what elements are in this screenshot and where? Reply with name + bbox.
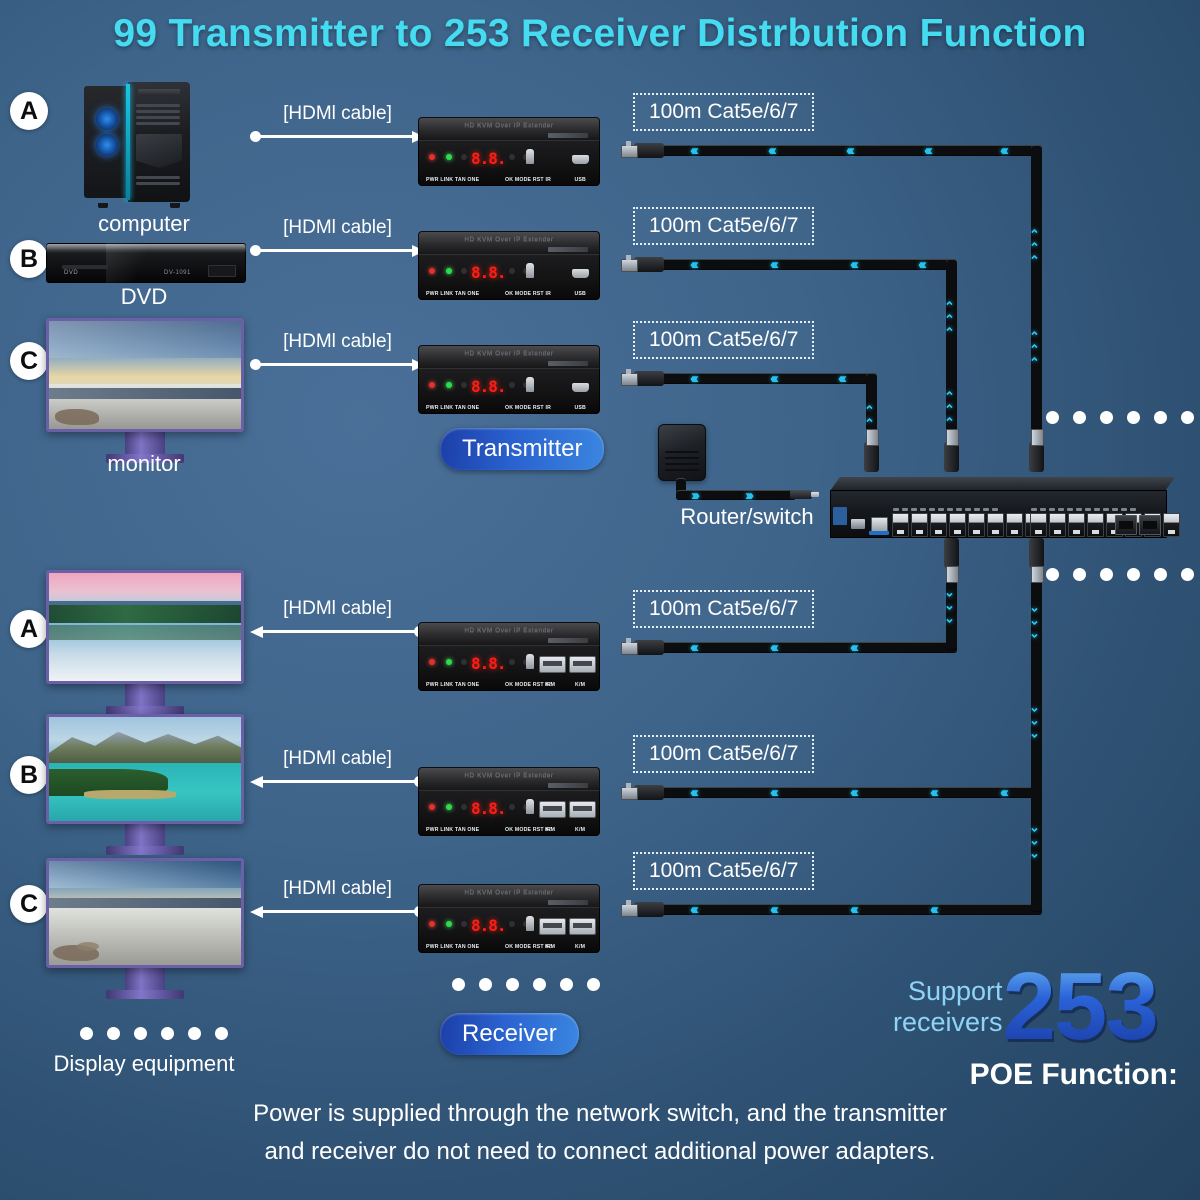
cable-chevron-vertical: ⌃⌃⌃ [1029,600,1040,639]
cat-cable-label-c-top: 100m Cat5e/6/7 [633,321,814,359]
cable-chevron: ‹‹‹ [690,257,696,272]
led-pwr [429,804,435,810]
poe-line-2: and receiver do not need to connect addi… [0,1138,1200,1166]
support-count: 253 [1003,965,1157,1049]
network-switch[interactable] [830,477,1175,539]
switch-usb-port[interactable] [851,519,865,529]
ir-sensor-icon [526,916,534,931]
device-label-left: PWR LINK TAN ONE [426,177,479,183]
hdmi-label: [HDMl cable] [250,878,425,900]
ethernet-cable-b-top [652,259,957,270]
hdmi-arrow-b-top: [HDMl cable] [250,217,425,257]
cat-cable-label-c-bottom: 100m Cat5e/6/7 [633,852,814,890]
source-monitor [46,318,244,463]
hdmi-arrow-b-bottom: [HDMl cable] [250,748,425,788]
switch-port-block-1[interactable] [892,513,1042,537]
led-tan [461,659,467,665]
led-link [446,804,452,810]
source-badge-b: B [10,240,48,278]
cable-chevron: ‹‹‹ [748,488,754,503]
ellipsis-dots-receiver [452,978,600,991]
cat-cable-label-a-top: 100m Cat5e/6/7 [633,93,814,131]
receiver-badge: Receiver [440,1013,579,1055]
diagram-canvas: 99 Transmitter to 253 Receiver Distrbuti… [0,0,1200,1200]
cable-chevron-vertical: ⌃⌃⌃ [1029,820,1040,859]
led-ok [509,659,515,665]
display-badge-c: C [10,885,48,923]
cable-chevron-vertical: ⌃⌃⌃ [1029,330,1040,369]
power-adapter [658,424,706,481]
display-monitor-c [46,858,244,999]
cable-chevron: ‹‹‹ [694,488,700,503]
display-monitor-b [46,714,244,855]
hdmi-arrow-a-top: [HDMl cable] [250,103,425,143]
usb-label: USB [574,291,586,297]
cable-chevron: ‹‹‹ [770,257,776,272]
transmitter-badge: Transmitter [440,428,604,470]
cable-chevron: ‹‹‹ [850,785,856,800]
device-brand: HD KVM Over IP Extender [419,122,599,129]
usb-label: USB [574,177,586,183]
cat-cable-label-a-bottom: 100m Cat5e/6/7 [633,590,814,628]
usb-km-label-1: K/M [545,682,555,688]
support-line-2: receivers [893,1007,1003,1038]
hdmi-arrow-c-bottom: [HDMl cable] [250,878,425,918]
monitor-label: monitor [44,451,244,477]
led-tan [461,154,467,160]
cable-chevron: ‹‹‹ [690,640,696,655]
led-tan [461,804,467,810]
device-brand: HD KVM Over IP Extender [419,236,599,243]
display-badge-a: A [10,610,48,648]
device-brand: HD KVM Over IP Extender [419,772,599,779]
usb-mini-port[interactable] [572,383,589,392]
seven-segment-display: 8.8. [471,654,506,673]
led-link [446,268,452,274]
poe-line-1: Power is supplied through the network sw… [0,1100,1200,1128]
cable-chevron-vertical: ⌃⌃⌃ [944,300,955,339]
usb-km-port-1[interactable] [539,801,566,818]
led-link [446,382,452,388]
cable-chevron: ‹‹‹ [770,902,776,917]
receiver-device-c[interactable]: HD KVM Over IP Extender 8.8. PWR LINK TA… [418,884,600,953]
seven-segment-display: 8.8. [471,149,506,168]
receiver-device-b[interactable]: HD KVM Over IP Extender 8.8. PWR LINK TA… [418,767,600,836]
cable-chevron: ‹‹‹ [850,640,856,655]
cable-chevron: ‹‹‹ [690,371,696,386]
ellipsis-dots-bottom-right [1046,568,1194,581]
device-label-left: PWR LINK TAN ONE [426,682,479,688]
seven-segment-display: 8.8. [471,916,506,935]
ir-sensor-icon [526,263,534,278]
computer-tower [84,82,200,204]
cable-chevron: ‹‹‹ [918,257,924,272]
sfp-slot-1[interactable] [1115,515,1137,535]
ir-sensor-icon [526,149,534,164]
support-receivers-block: Support receivers 253 [893,965,1157,1049]
device-tag [548,247,588,252]
support-line-1: Support [893,976,1003,1007]
usb-km-port-2[interactable] [569,656,596,673]
hdmi-label: [HDMl cable] [250,103,425,125]
cable-chevron: ‹‹‹ [850,257,856,272]
cable-chevron: ‹‹‹ [770,640,776,655]
led-ok [509,804,515,810]
cable-chevron: ‹‹‹ [690,902,696,917]
cable-chevron: ‹‹‹ [1000,143,1006,158]
led-tan [461,921,467,927]
seven-segment-display: 8.8. [471,263,506,282]
led-link [446,921,452,927]
hdmi-label: [HDMl cable] [250,598,425,620]
cable-chevron: ‹‹‹ [1000,785,1006,800]
device-label-mid: OK MODE RST IR [505,177,551,183]
device-label-mid: OK MODE RST IR [505,291,551,297]
ethernet-cable-c-bottom [652,904,1042,915]
transmitter-device-b[interactable]: HD KVM Over IP Extender 8.8. PWR LINK TA… [418,231,600,300]
led-pwr [429,921,435,927]
cable-chevron: ‹‹‹ [930,902,936,917]
ir-sensor-icon [526,377,534,392]
device-tag [548,783,588,788]
seven-segment-display: 8.8. [471,799,506,818]
ellipsis-dots-top-right [1046,411,1194,424]
led-pwr [429,659,435,665]
ethernet-cable-b-bottom [652,787,1042,798]
device-label-left: PWR LINK TAN ONE [426,291,479,297]
device-brand: HD KVM Over IP Extender [419,350,599,357]
display-badge-b: B [10,756,48,794]
receiver-device-a[interactable]: HD KVM Over IP Extender 8.8. PWR LINK TA… [418,622,600,691]
cat-cable-label-b-top: 100m Cat5e/6/7 [633,207,814,245]
switch-management-port[interactable] [871,517,888,532]
cable-chevron: ‹‹‹ [846,143,852,158]
ellipsis-dots-display-equipment [80,1027,228,1040]
usb-km-label-1: K/M [545,944,555,950]
hdmi-label: [HDMl cable] [250,748,425,770]
ir-sensor-icon [526,654,534,669]
led-tan [461,382,467,388]
cable-chevron: ‹‹‹ [850,902,856,917]
cable-chevron: ‹‹‹ [690,785,696,800]
cable-chevron: ‹‹‹ [770,785,776,800]
usb-km-port-2[interactable] [569,801,596,818]
led-tan [461,268,467,274]
usb-km-port-1[interactable] [539,656,566,673]
device-tag [548,900,588,905]
led-ok [509,382,515,388]
led-link [446,659,452,665]
cable-chevron: ‹‹‹ [690,143,696,158]
hdmi-label: [HDMl cable] [250,331,425,353]
cable-chevron: ‹‹‹ [930,785,936,800]
usb-km-port-1[interactable] [539,918,566,935]
cable-chevron: ‹‹‹ [838,371,844,386]
cat-cable-label-b-bottom: 100m Cat5e/6/7 [633,735,814,773]
device-tag [548,133,588,138]
usb-km-label-2: K/M [575,827,585,833]
usb-km-label-2: K/M [575,944,585,950]
transmitter-device-c[interactable]: HD KVM Over IP Extender 8.8. PWR LINK TA… [418,345,600,414]
hdmi-arrow-a-bottom: [HDMl cable] [250,598,425,638]
poe-title: POE Function: [0,1058,1178,1092]
device-label-left: PWR LINK TAN ONE [426,827,479,833]
led-link [446,154,452,160]
led-pwr [429,268,435,274]
led-pwr [429,382,435,388]
router-switch-label: Router/switch [652,504,842,530]
transmitter-device-a[interactable]: HD KVM Over IP Extender 8.8. PWR LINK TA… [418,117,600,186]
usb-label: USB [574,405,586,411]
device-label-mid: OK MODE RST IR [505,405,551,411]
device-tag [548,638,588,643]
computer-label: computer [44,211,244,237]
led-ok [509,154,515,160]
hdmi-arrow-c-top: [HDMl cable] [250,331,425,371]
led-ok [509,921,515,927]
source-badge-a: A [10,92,48,130]
page-title: 99 Transmitter to 253 Receiver Distrbuti… [0,12,1200,56]
ethernet-cable-a-top-drop [1031,145,1042,470]
ir-sensor-icon [526,799,534,814]
cable-chevron-vertical: ⌃⌃⌃ [1029,700,1040,739]
usb-km-port-2[interactable] [569,918,596,935]
led-pwr [429,154,435,160]
dvd-label: DVD [44,284,244,310]
cable-chevron: ‹‹‹ [924,143,930,158]
cable-chevron: ‹‹‹ [770,371,776,386]
dvd-player: DVDDV-1091 [46,243,246,283]
sfp-slot-2[interactable] [1139,515,1161,535]
cable-chevron-vertical: ⌃⌃⌃ [944,390,955,429]
device-brand: HD KVM Over IP Extender [419,627,599,634]
dc-barrel-plug [790,490,812,499]
device-tag [548,361,588,366]
usb-mini-port[interactable] [572,269,589,278]
device-brand: HD KVM Over IP Extender [419,889,599,896]
usb-km-label-2: K/M [575,682,585,688]
cable-chevron-vertical: ⌃⌃⌃ [944,585,955,624]
display-monitor-a [46,570,244,715]
cable-chevron-vertical: ⌃⌃⌃ [1029,228,1040,267]
device-label-left: PWR LINK TAN ONE [426,944,479,950]
seven-segment-display: 8.8. [471,377,506,396]
source-badge-c: C [10,342,48,380]
led-ok [509,268,515,274]
device-label-left: PWR LINK TAN ONE [426,405,479,411]
usb-km-label-1: K/M [545,827,555,833]
cable-chevron: ‹‹‹ [768,143,774,158]
hdmi-label: [HDMl cable] [250,217,425,239]
ethernet-cable-a-bottom [652,642,957,653]
usb-mini-port[interactable] [572,155,589,164]
